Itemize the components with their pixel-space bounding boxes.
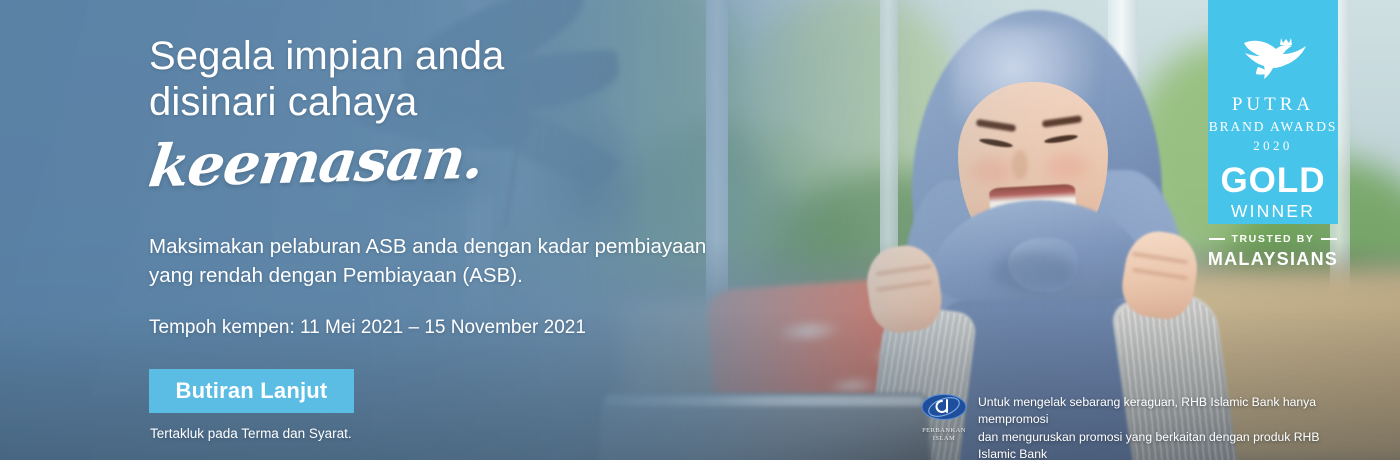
- perbankan-islam-logo: PERBANKAN ISLAM: [920, 394, 968, 443]
- badge-tier-subtitle: WINNER: [1231, 203, 1315, 221]
- perbankan-islam-logo-icon: [921, 394, 967, 421]
- badge-trusted-by-row: TRUSTED BY: [1209, 233, 1336, 245]
- putra-brand-awards-badge: PUTRA BRAND AWARDS 2020 GOLD WINNER TRUS…: [1208, 0, 1338, 224]
- badge-audience: MALAYSIANS: [1208, 250, 1338, 268]
- badge-award-name: PUTRA: [1232, 95, 1314, 114]
- badge-trusted-by-label: TRUSTED BY: [1231, 233, 1314, 245]
- perbankan-islam-logo-caption: PERBANKAN ISLAM: [920, 427, 968, 443]
- headline: Segala impian anda disinari cahaya: [149, 34, 504, 125]
- footer-disclaimer-block: PERBANKAN ISLAM Untuk mengelak sebarang …: [920, 394, 1356, 460]
- copy-block: Segala impian anda disinari cahaya keema…: [0, 0, 780, 460]
- terms-and-conditions-note: Tertakluk pada Terma dan Syarat.: [150, 426, 352, 441]
- dove-icon: [1236, 34, 1310, 89]
- subcopy: Maksimakan pelaburan ASB anda dengan kad…: [149, 232, 719, 290]
- rule-left-icon: [1209, 238, 1225, 240]
- disclaimer-text: Untuk mengelak sebarang keraguan, RHB Is…: [978, 394, 1356, 460]
- butiran-lanjut-button[interactable]: Butiran Lanjut: [149, 369, 354, 413]
- promo-banner: Segala impian anda disinari cahaya keema…: [0, 0, 1400, 460]
- badge-award-year: 2020: [1253, 139, 1293, 152]
- rule-right-icon: [1321, 238, 1337, 240]
- campaign-period: Tempoh kempen: 11 Mei 2021 – 15 November…: [149, 317, 586, 339]
- badge-tier: GOLD: [1220, 163, 1325, 198]
- badge-award-subtitle: BRAND AWARDS: [1209, 120, 1338, 134]
- headline-script-word: keemasan.: [145, 124, 487, 201]
